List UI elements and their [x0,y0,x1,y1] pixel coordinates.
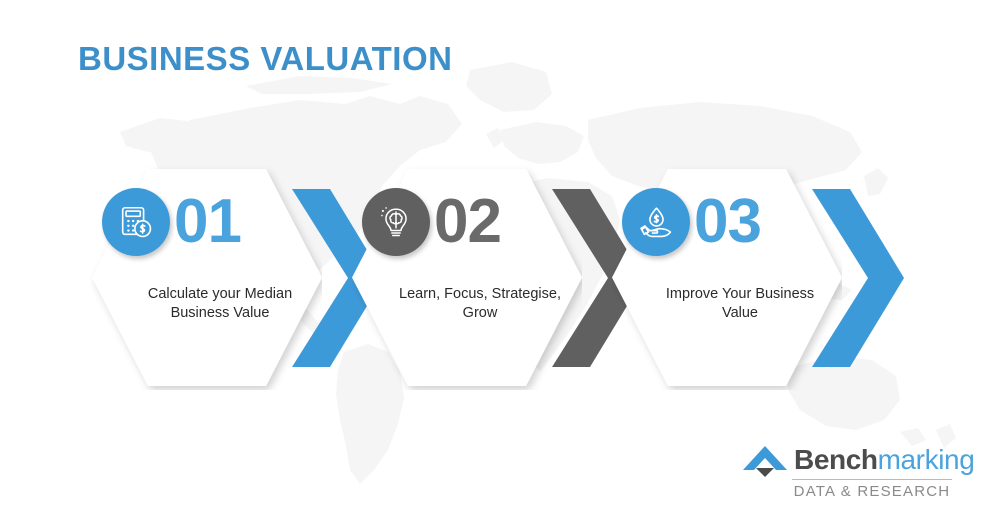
logo-wordmark: Benchmarking [794,445,974,475]
step-number-1: 01 [174,189,314,255]
page-title: BUSINESS VALUATION [78,40,452,78]
infographic-canvas: BUSINESS VALUATION [0,0,1000,528]
logo-marking-text: marking [878,444,975,475]
step-card-2[interactable]: 02 Learn, Focus, Strategise, Grow [350,165,640,390]
step-number-3: 03 [694,189,834,255]
step-icon-circle-3 [622,188,690,256]
step-card-1[interactable]: 01 Calculate your Median Business Value [90,165,380,390]
step-icon-circle-2 [362,188,430,256]
step-icon-circle-1 [102,188,170,256]
triangle-chevron-logo-mark [742,443,788,477]
step-card-3[interactable]: 03 Improve Your Business Value [610,165,900,390]
step-caption-1: Calculate your Median Business Value [130,285,310,323]
hand-money-drop-icon [637,203,675,241]
logo-divider [792,479,952,480]
calculator-dollar-icon [117,203,155,241]
brand-logo[interactable]: Benchmarking DATA & RESEARCH [742,443,952,505]
step-number-2: 02 [434,189,574,255]
logo-tagline: DATA & RESEARCH [792,483,952,500]
step-caption-2: Learn, Focus, Strategise, Grow [390,285,570,323]
step-caption-3: Improve Your Business Value [650,285,830,323]
lightbulb-brain-icon [377,203,415,241]
logo-name-row: Benchmarking [742,443,974,477]
steps-container: 01 Calculate your Median Business Value [0,165,1000,390]
logo-bench-text: Bench [794,444,878,475]
